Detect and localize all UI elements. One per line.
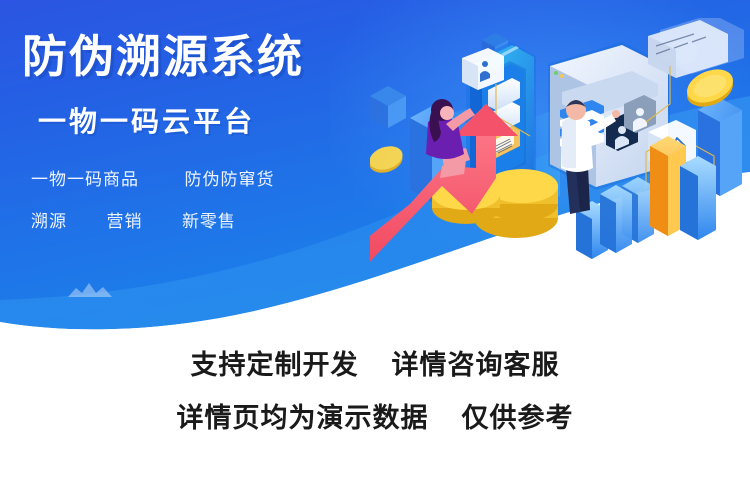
feature-row-2: 溯源 营销 新零售 [31,213,392,230]
feature-item: 一物一码商品 [31,170,139,189]
feature-row-1: 一物一码商品 防伪防窜货 [31,171,392,188]
page-title: 防伪溯源系统 [22,34,392,79]
promo-text: 支持定制开发 [190,350,358,380]
promo-text: 详情咨询客服 [392,350,560,380]
promo-line-1: 支持定制开发 详情咨询客服 [0,352,750,379]
hero-illustration [370,18,750,308]
promo-text-block: 支持定制开发 详情咨询客服 详情页均为演示数据 仅供参考 [0,352,750,432]
hero-copy: 防伪溯源系统 一物一码云平台 一物一码商品 防伪防窜货 溯源 营销 新零售 [22,34,392,230]
feature-item: 营销 [106,212,142,231]
page-subtitle: 一物一码云平台 [38,108,392,136]
promo-text: 仅供参考 [462,403,574,433]
feature-item: 溯源 [31,212,67,231]
promo-banner: 防伪溯源系统 一物一码云平台 一物一码商品 防伪防窜货 溯源 营销 新零售 支持… [0,0,750,482]
feature-item: 新零售 [182,212,236,231]
promo-text: 详情页均为演示数据 [176,403,428,433]
credit-card [648,18,744,78]
promo-line-2: 详情页均为演示数据 仅供参考 [0,405,750,432]
feature-item: 防伪防窜货 [184,170,274,189]
mountain-decor [68,283,112,297]
